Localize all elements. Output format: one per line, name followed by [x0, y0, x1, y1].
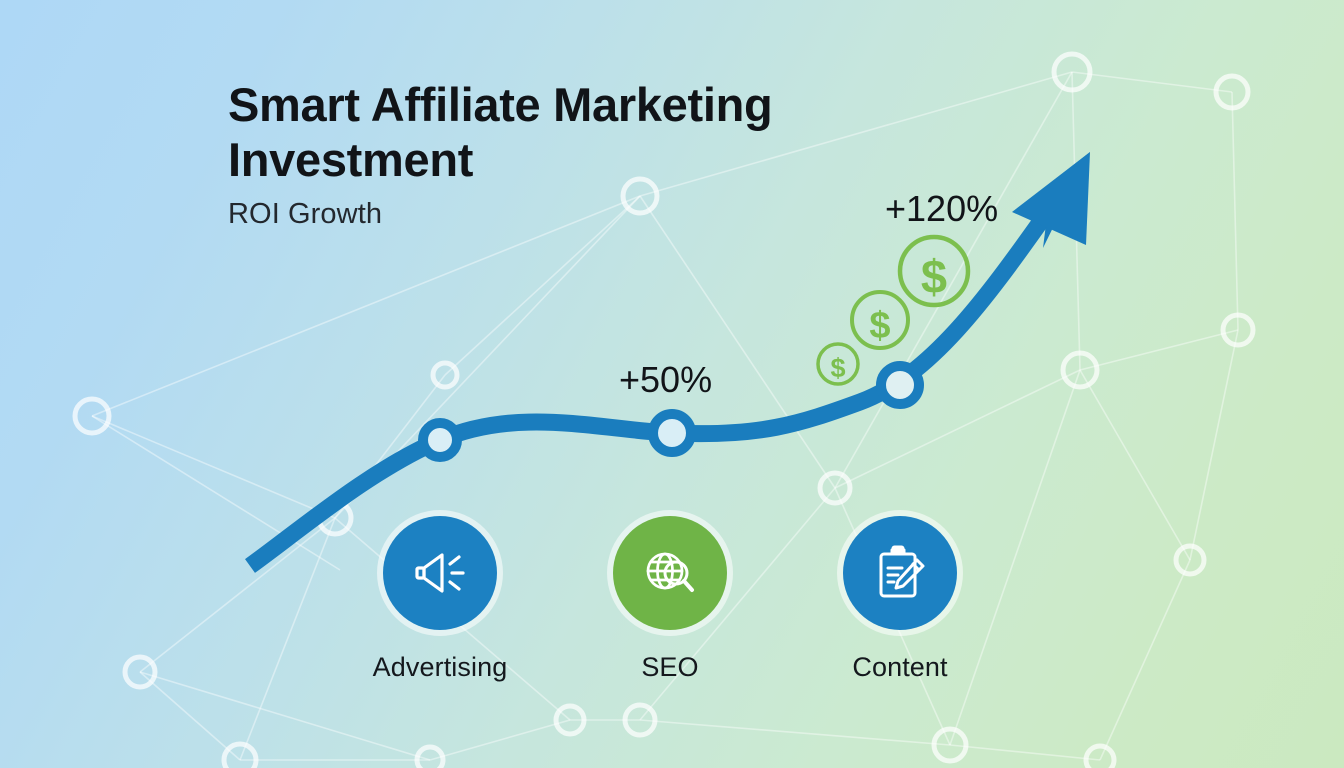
channel-label-advertising: Advertising	[373, 652, 508, 683]
milestone-node-2	[653, 414, 691, 452]
channel-content[interactable]: Content	[810, 516, 990, 683]
page-subtitle: ROI Growth	[228, 198, 868, 231]
channel-advertising[interactable]: Advertising	[350, 516, 530, 683]
dollar-coins: $ $ $	[818, 237, 968, 384]
globe-search-icon	[638, 541, 702, 605]
callout-high-growth: +120%	[885, 188, 998, 230]
content-badge[interactable]	[843, 516, 957, 630]
seo-badge[interactable]	[613, 516, 727, 630]
milestone-node-1	[423, 423, 457, 457]
title-block: Smart Affiliate Marketing Investment ROI…	[228, 78, 868, 231]
channel-row: Advertising SEO	[350, 516, 990, 683]
advertising-badge[interactable]	[383, 516, 497, 630]
page-title: Smart Affiliate Marketing Investment	[228, 78, 868, 188]
svg-text:$: $	[921, 250, 947, 303]
megaphone-icon	[408, 541, 472, 605]
svg-text:$: $	[869, 305, 890, 347]
clipboard-pencil-icon	[868, 541, 932, 605]
channel-seo[interactable]: SEO	[580, 516, 760, 683]
callout-mid-growth: +50%	[619, 359, 712, 401]
infographic-canvas: $ $ $ Smart Affiliate Marketing Investme…	[0, 0, 1344, 768]
dollar-coin-medium: $	[852, 292, 908, 348]
dollar-coin-small: $	[818, 344, 858, 384]
channel-label-content: Content	[852, 652, 947, 683]
svg-text:$: $	[830, 353, 845, 383]
milestone-node-3	[881, 366, 919, 404]
channel-label-seo: SEO	[641, 652, 698, 683]
dollar-coin-large: $	[900, 237, 968, 305]
